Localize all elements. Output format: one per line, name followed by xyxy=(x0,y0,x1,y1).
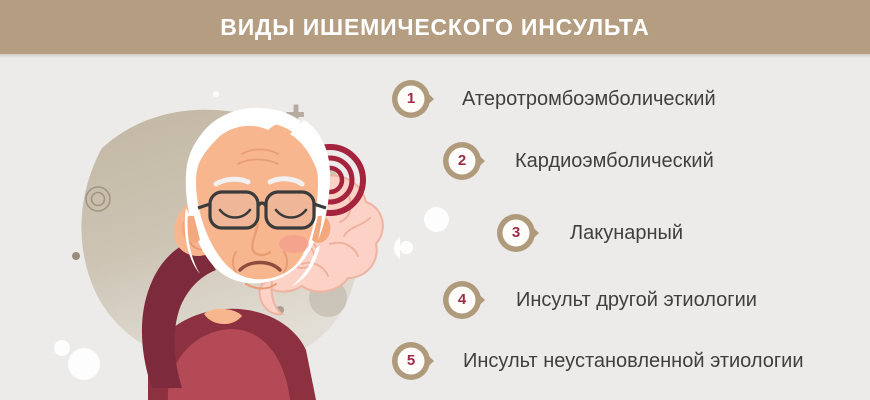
list-item-label: Кардиоэмболический xyxy=(515,139,714,183)
number-badge xyxy=(442,139,486,183)
list-item-label: Инсульт другой этиологии xyxy=(516,278,757,322)
list-item-label: Атеротромбоэмболический xyxy=(462,77,716,121)
stroke-type-list: 1 Атеротромбоэмболический 2 Кардиоэмболи… xyxy=(0,0,870,400)
list-item-label: Лакунарный xyxy=(570,211,683,255)
list-item-label: Инсульт неустановленной этиологии xyxy=(463,339,804,383)
number-badge xyxy=(442,278,486,322)
infographic-root: ВИДЫ ИШЕМИЧЕСКОГО ИНСУЛЬТА xyxy=(0,0,870,400)
number-badge xyxy=(496,211,540,255)
decorative-dot xyxy=(400,241,413,254)
decorative-dot xyxy=(424,207,449,232)
number-badge xyxy=(391,339,435,383)
number-badge xyxy=(391,77,435,121)
